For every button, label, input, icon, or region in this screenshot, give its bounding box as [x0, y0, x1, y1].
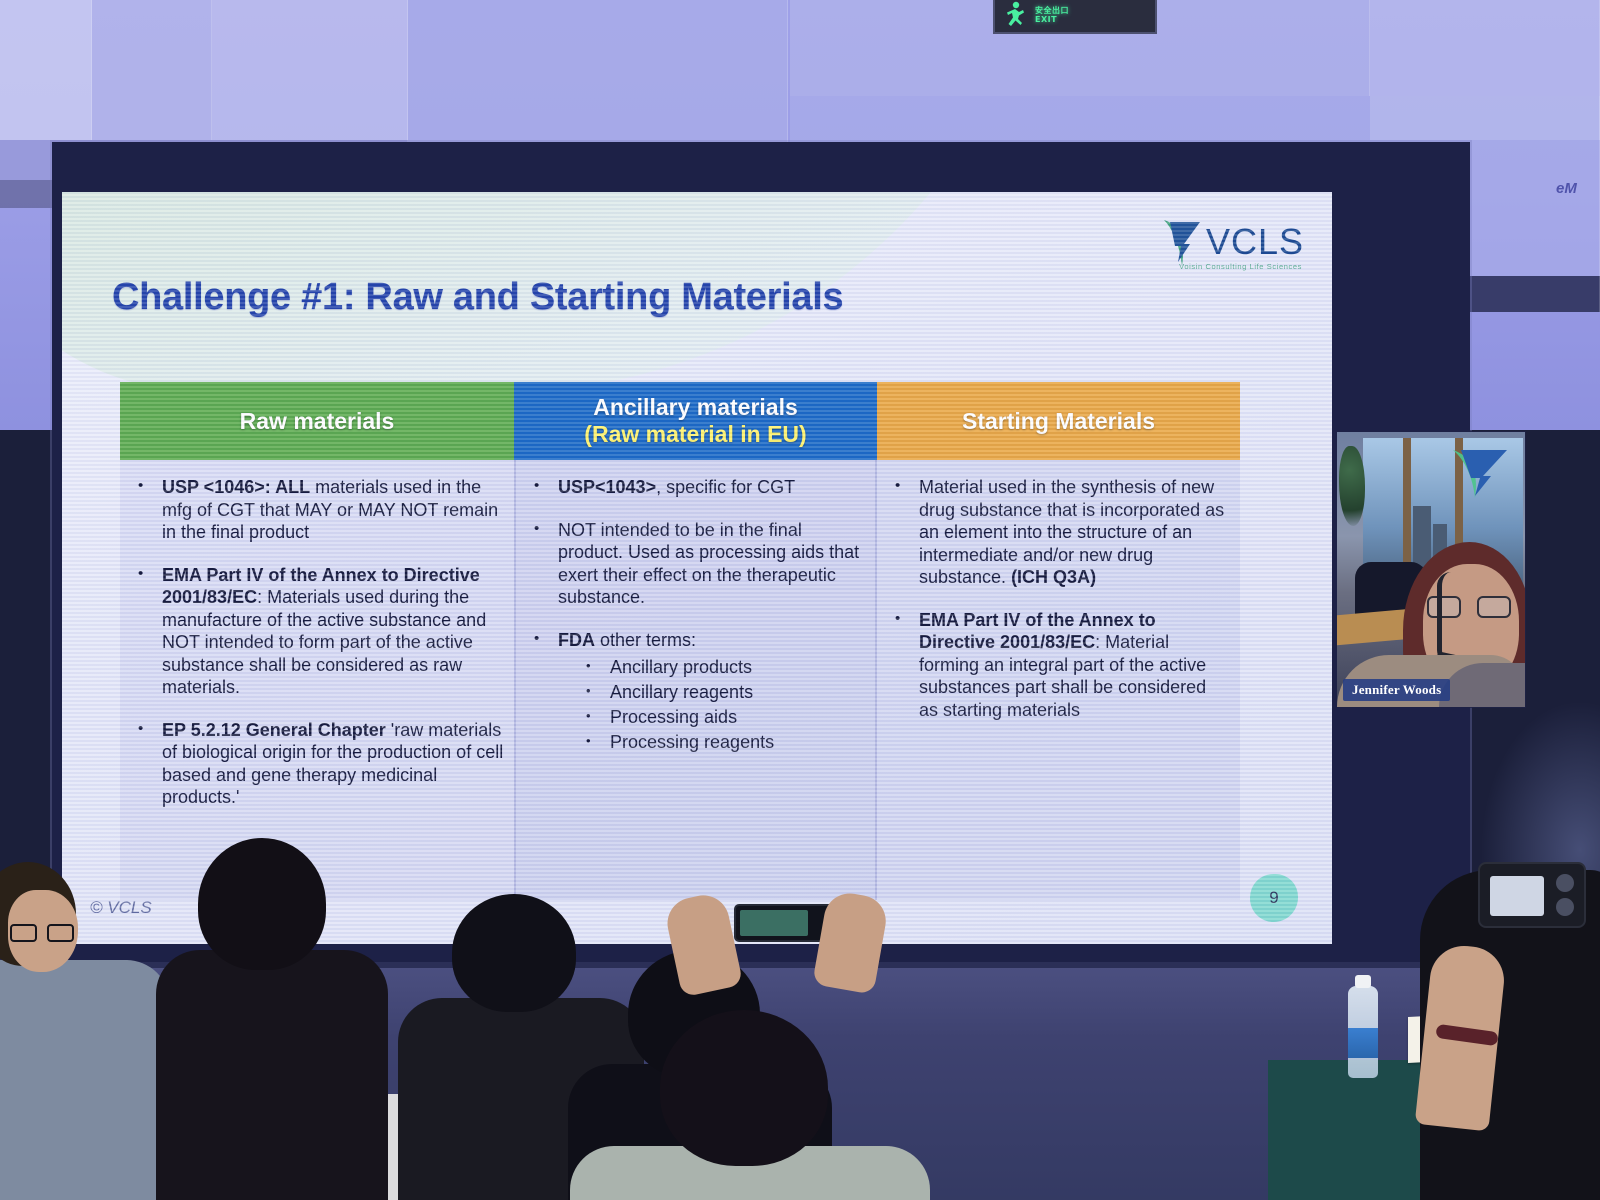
sub-bullet-list: Ancillary products Ancillary reagents Pr… [558, 655, 865, 754]
bullet-text: NOT intended to be in the final product.… [558, 520, 859, 608]
list-item: Processing reagents [580, 730, 865, 754]
table-column-raw-materials: Raw materials USP <1046>: ALL materials … [120, 382, 514, 900]
vcls-logo: VCLS Voisin Consulting Life Sciences [1160, 214, 1304, 270]
vcls-tagline: Voisin Consulting Life Sciences [1179, 262, 1302, 271]
list-item: FDA other terms: Ancillary products Anci… [520, 629, 865, 755]
screenshot-root: 安全出口EXIT eM VCLS Voisin Consulting Life … [0, 0, 1600, 1200]
list-item: Material used in the synthesis of new dr… [881, 476, 1230, 589]
glasses-icon [10, 924, 74, 942]
list-item: EMA Part IV of the Annex to Directive 20… [881, 609, 1230, 722]
bullet-bold: USP<1043> [558, 477, 656, 497]
vcls-logo-watermark [1449, 442, 1523, 502]
slide-footer-copyright: © VCLS [90, 898, 152, 918]
list-item: USP <1046>: ALL materials used in the mf… [124, 476, 504, 544]
list-item: EMA Part IV of the Annex to Directive 20… [124, 564, 504, 699]
slide-page-number: 9 [1250, 874, 1298, 922]
presentation-slide: VCLS Voisin Consulting Life Sciences Cha… [62, 192, 1332, 944]
video-participant-tile[interactable]: Jennifer Woods [1337, 432, 1525, 707]
bullet-list: USP<1043>, specific for CGT NOT intended… [520, 476, 865, 754]
bullet-bold: FDA [558, 630, 595, 650]
bullet-text: , specific for CGT [656, 477, 795, 497]
wall-panel [0, 0, 92, 140]
list-item: EP 5.2.12 General Chapter 'raw materials… [124, 719, 504, 809]
wall-panel [212, 0, 408, 140]
column-body: Material used in the synthesis of new dr… [877, 460, 1240, 900]
exit-sign: 安全出口EXIT [993, 0, 1157, 34]
exit-sign-label: 安全出口EXIT [1035, 6, 1069, 24]
table-column-starting-materials: Starting Materials Material used in the … [877, 382, 1240, 900]
participant-name-label: Jennifer Woods [1343, 679, 1450, 701]
wall-panel [92, 0, 212, 140]
list-item: NOT intended to be in the final product.… [520, 519, 865, 609]
column-header-label: Raw materials [240, 408, 395, 435]
water-bottle [1348, 986, 1378, 1078]
slide-title: Challenge #1: Raw and Starting Materials [112, 276, 843, 319]
column-header-raw-materials: Raw materials [120, 382, 514, 460]
bullet-bold: EP 5.2.12 General Chapter [162, 720, 386, 740]
table-column-ancillary-materials: Ancillary materials (Raw material in EU)… [514, 382, 877, 900]
bullet-bold-tail: (ICH Q3A) [1011, 567, 1096, 587]
smartphone-raised [1478, 862, 1586, 928]
headset-band [1437, 572, 1451, 664]
hands-holding-phone [672, 878, 882, 998]
list-item: USP<1043>, specific for CGT [520, 476, 865, 499]
list-item: Ancillary reagents [580, 680, 865, 704]
wall-panel [408, 0, 788, 140]
vcls-wordmark: VCLS [1206, 223, 1304, 261]
list-item: Ancillary products [580, 655, 865, 679]
bullet-list: Material used in the synthesis of new dr… [881, 476, 1230, 721]
column-header-starting-materials: Starting Materials [877, 382, 1240, 460]
list-item: Processing aids [580, 705, 865, 729]
column-header-label: Starting Materials [962, 408, 1155, 435]
hand [663, 891, 744, 998]
column-header-ancillary-materials: Ancillary materials (Raw material in EU) [514, 382, 877, 460]
column-header-sublabel: (Raw material in EU) [584, 421, 806, 448]
running-man-exit-icon [1003, 1, 1029, 29]
bullet-bold: USP <1046>: ALL [162, 477, 310, 497]
materials-comparison-table: Raw materials USP <1046>: ALL materials … [120, 382, 1240, 900]
plant [1339, 446, 1365, 526]
bullet-list: USP <1046>: ALL materials used in the mf… [124, 476, 504, 809]
column-header-label: Ancillary materials [593, 394, 798, 421]
column-body: USP <1046>: ALL materials used in the mf… [120, 460, 514, 900]
bullet-text: other terms: [595, 630, 696, 650]
column-body: USP<1043>, specific for CGT NOT intended… [514, 460, 877, 900]
right-edge-partial-text: eM [1556, 180, 1577, 197]
